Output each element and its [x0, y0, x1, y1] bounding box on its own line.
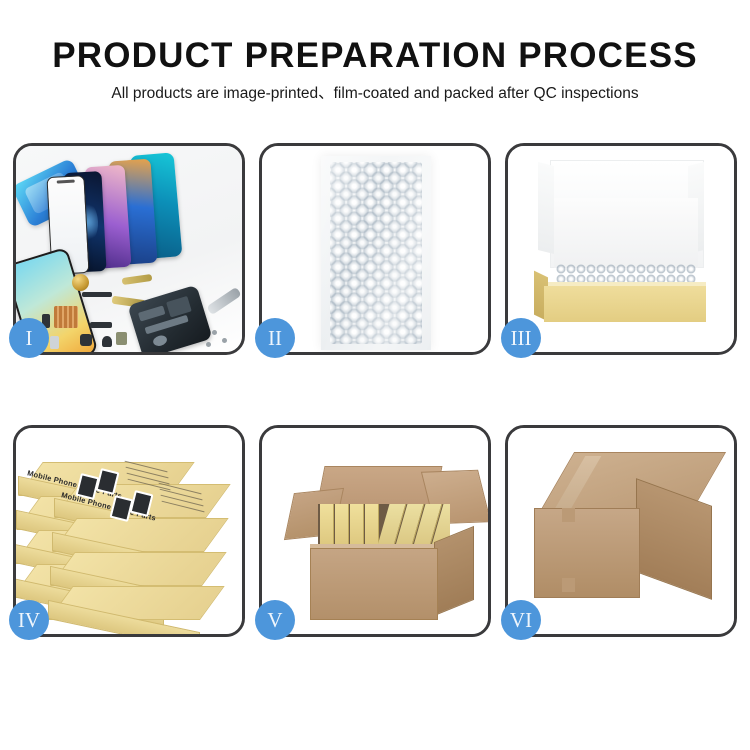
step-badge-4: IV: [9, 600, 49, 640]
part-block-1: [80, 334, 92, 346]
repair-tool-icon: [206, 287, 241, 315]
infographic-page: PRODUCT PREPARATION PROCESS All products…: [0, 0, 750, 750]
step-image-boxes-stacked: Mobile Phone Spare Parts Mobile Phone Sp…: [16, 428, 242, 634]
step-badge-6: VI: [501, 600, 541, 640]
step-badge-5: V: [255, 600, 295, 640]
part-block-4: [50, 336, 59, 349]
copper-chip-icon: [54, 306, 78, 328]
part-strip-1: [82, 292, 112, 297]
part-strip-2: [90, 322, 112, 328]
step-panel-bubble-wrapping[interactable]: II: [259, 143, 491, 355]
step-image-inner-box-packing: [508, 146, 734, 352]
open-carton: [292, 464, 468, 624]
chassis-component-2: [166, 296, 192, 318]
phone-chassis-open: [127, 285, 212, 352]
part-block-3: [116, 332, 127, 345]
part-block-2: [102, 336, 112, 347]
packing-tape-front-lower: [562, 578, 575, 592]
page-subtitle: All products are image-printed、film-coat…: [0, 86, 750, 102]
step-image-carton-filling: [262, 428, 488, 634]
step-image-carton-sealed: [508, 428, 734, 634]
box-lid-left-flap: [538, 162, 554, 254]
packing-tape-front-upper: [562, 508, 575, 522]
screw-3: [206, 342, 211, 347]
carton-front-panel: [534, 508, 640, 598]
step-image-products-and-parts: [16, 146, 242, 352]
screw-1: [212, 330, 217, 335]
step-panel-carton-filling[interactable]: V: [259, 425, 491, 637]
carton-right-side: [636, 478, 712, 600]
screw-2: [222, 338, 227, 343]
step-badge-3: III: [501, 318, 541, 358]
header: PRODUCT PREPARATION PROCESS All products…: [0, 0, 750, 102]
box-front-panel: [544, 286, 706, 322]
foam-liner: [554, 198, 698, 268]
chassis-component-1: [138, 305, 165, 321]
carton-right-side: [434, 526, 474, 616]
step-panel-products-and-parts[interactable]: I: [13, 143, 245, 355]
steps-grid: I II: [13, 143, 737, 637]
page-title: PRODUCT PREPARATION PROCESS: [0, 38, 750, 73]
step-image-bubble-wrapping: [262, 146, 488, 352]
plastic-sheen: [321, 156, 431, 350]
chassis-component-4: [152, 334, 168, 348]
sealed-carton: [532, 452, 718, 618]
step-badge-2: II: [255, 318, 295, 358]
carton-front-panel: [310, 548, 438, 620]
flex-cable-upper: [122, 274, 153, 285]
bubble-wrapped-item: [321, 156, 431, 350]
steps-row-bottom: Mobile Phone Spare Parts Mobile Phone Sp…: [13, 425, 737, 637]
step-panel-carton-sealed[interactable]: VI: [505, 425, 737, 637]
step-panel-inner-box-packing[interactable]: III: [505, 143, 737, 355]
steps-row-top: I II: [13, 143, 737, 355]
speaker-module-icon: [72, 274, 89, 291]
step-badge-1: I: [9, 318, 49, 358]
box-stack: Mobile Phone Spare Parts Mobile Phone Sp…: [16, 440, 242, 634]
step-panel-boxes-stacked[interactable]: Mobile Phone Spare Parts Mobile Phone Sp…: [13, 425, 245, 637]
